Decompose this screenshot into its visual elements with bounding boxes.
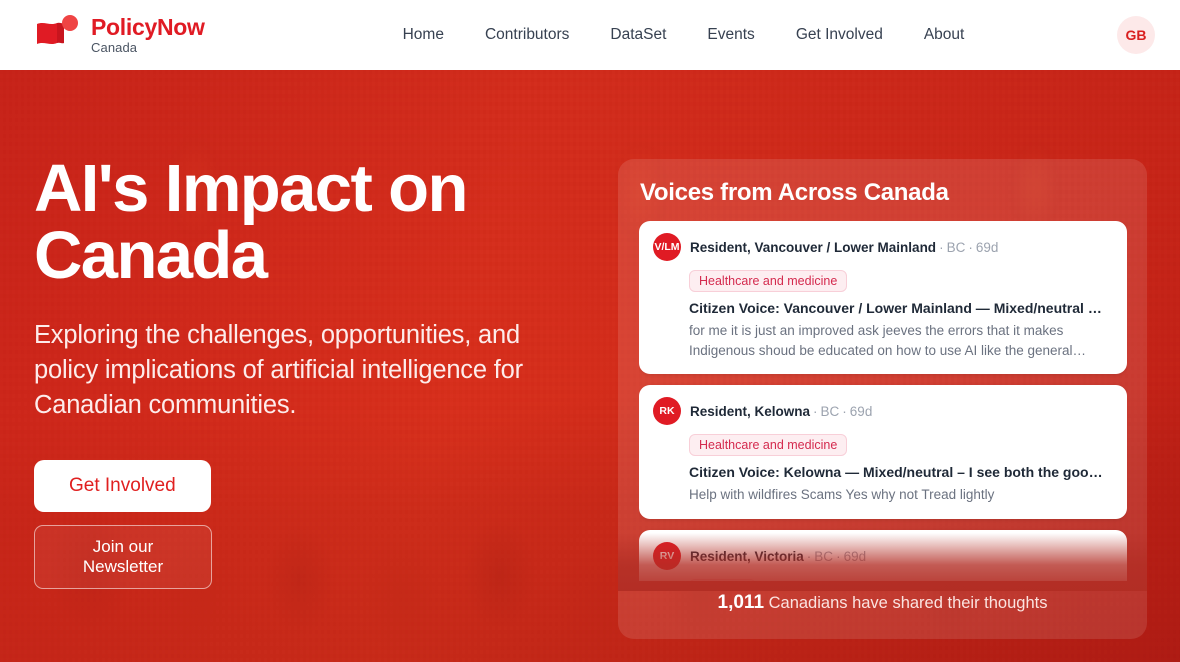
voice-author: Resident, Vancouver / Lower Mainland	[690, 240, 936, 255]
brand-logo[interactable]: PolicyNow Canada	[34, 15, 205, 55]
voices-count: 1,011	[718, 592, 765, 613]
voice-author: Resident, Kelowna	[690, 404, 810, 419]
voice-meta: Resident, Vancouver / Lower Mainland·BC·…	[690, 240, 998, 255]
voice-meta: Resident, Victoria·BC·69d	[690, 549, 866, 564]
voice-meta: Resident, Kelowna·BC·69d	[690, 404, 872, 419]
site-header: PolicyNow Canada Home Contributors DataS…	[0, 0, 1180, 70]
nav-get-involved[interactable]: Get Involved	[796, 26, 883, 44]
nav-events[interactable]: Events	[707, 26, 754, 44]
user-avatar[interactable]: GB	[1117, 16, 1155, 54]
voice-headline: Citizen Voice: Vancouver / Lower Mainlan…	[689, 300, 1109, 316]
list-item[interactable]: RK Resident, Kelowna·BC·69d Healthcare a…	[639, 385, 1127, 519]
avatar: RK	[653, 397, 681, 425]
nav-about[interactable]: About	[924, 26, 965, 44]
brand-name: PolicyNow	[91, 16, 205, 39]
voices-stat-text: Canadians have shared their thoughts	[769, 594, 1048, 612]
nav-home[interactable]: Home	[403, 26, 444, 44]
page-title: AI's Impact on Canada	[34, 155, 504, 289]
voice-province: BC	[821, 404, 840, 419]
voices-panel-title: Voices from Across Canada	[640, 179, 949, 207]
voices-list[interactable]: V/LM Resident, Vancouver / Lower Mainlan…	[639, 221, 1127, 581]
logo-dot-icon	[62, 15, 78, 31]
hero-content: AI's Impact on Canada Exploring the chal…	[34, 155, 594, 589]
hero-actions: Get Involved Join our Newsletter	[34, 460, 594, 589]
voice-body: for me it is just an improved ask jeeves…	[689, 321, 1099, 360]
status-badge: Healthcare and medicine	[689, 270, 847, 292]
voice-author: Resident, Victoria	[690, 549, 804, 564]
flag-book-logo-icon	[34, 15, 80, 55]
nav-dataset[interactable]: DataSet	[610, 26, 666, 44]
get-involved-button[interactable]: Get Involved	[34, 460, 211, 512]
voice-headline: Citizen Voice: Kelowna — Mixed/neutral –…	[689, 464, 1109, 480]
hero-subtitle: Exploring the challenges, opportunities,…	[34, 318, 554, 424]
voice-age: 69d	[850, 404, 873, 419]
join-newsletter-button[interactable]: Join our Newsletter	[34, 525, 212, 589]
voices-stat: 1,011 Canadians have shared their though…	[618, 592, 1147, 614]
voice-body: Help with wildfires Scams Yes why not Tr…	[689, 485, 1099, 505]
status-badge: Healthcare and medicine	[689, 434, 847, 456]
nav-contributors[interactable]: Contributors	[485, 26, 569, 44]
list-item[interactable]: V/LM Resident, Vancouver / Lower Mainlan…	[639, 221, 1127, 374]
voice-age: 69d	[844, 549, 867, 564]
voices-panel: Voices from Across Canada V/LM Resident,…	[618, 159, 1147, 639]
voice-age: 69d	[976, 240, 999, 255]
avatar: V/LM	[653, 233, 681, 261]
voice-province: BC	[947, 240, 966, 255]
hero-section: AI's Impact on Canada Exploring the chal…	[0, 70, 1180, 662]
brand-subtitle: Canada	[91, 41, 205, 54]
voice-province: BC	[814, 549, 833, 564]
main-navigation: Home Contributors DataSet Events Get Inv…	[403, 26, 965, 44]
avatar: RV	[653, 542, 681, 570]
status-badge: Not sure	[689, 579, 756, 581]
list-item[interactable]: RV Resident, Victoria·BC·69d Not sure Ci…	[639, 530, 1127, 581]
